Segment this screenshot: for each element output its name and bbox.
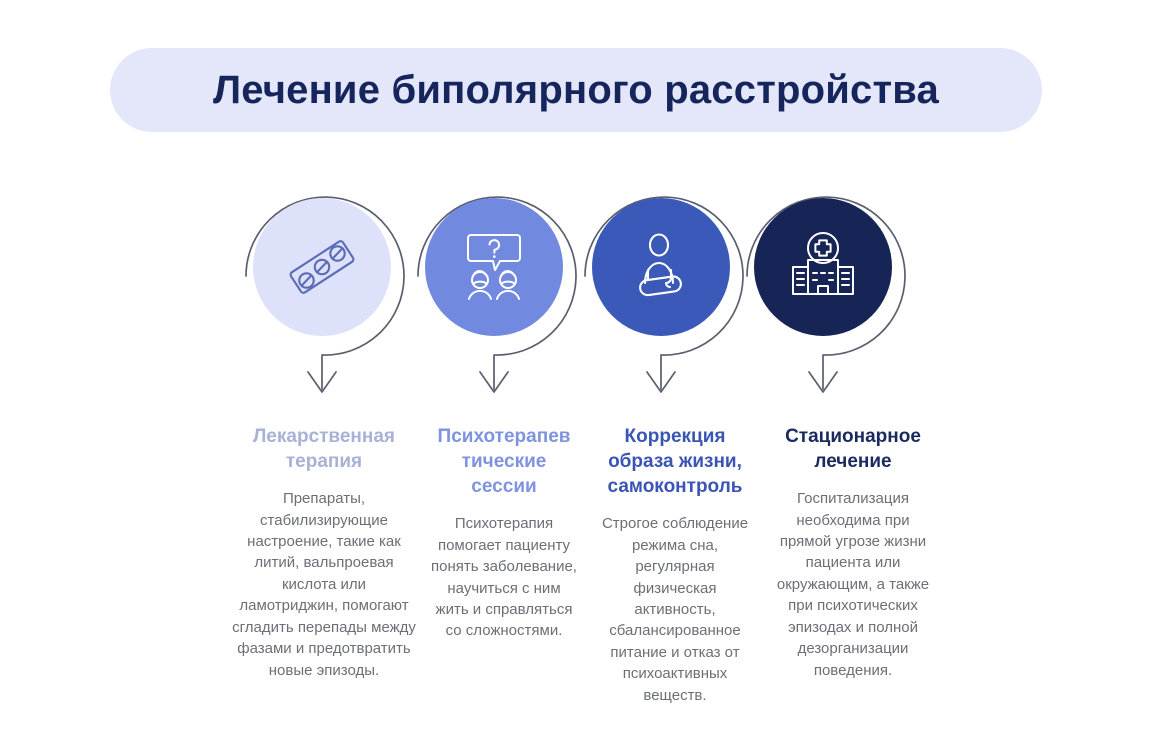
step-column-1: Лекарственная терапия Препараты, стабили… bbox=[208, 424, 440, 706]
page-title: Лечение биполярного расстройства bbox=[213, 68, 939, 113]
pill-blister-pack-icon bbox=[283, 228, 361, 306]
connector-step-2 bbox=[418, 197, 576, 392]
step-heading-3: Коррекция образа жизни, самоконтроль bbox=[596, 424, 754, 499]
connector-step-3 bbox=[585, 197, 743, 392]
step-heading-4: Стационарное лечение bbox=[770, 424, 936, 474]
step-body-3: Строгое соблюдение режима сна, регулярна… bbox=[596, 513, 754, 706]
step-column-4: Стационарное лечение Госпитализация необ… bbox=[764, 424, 942, 706]
step-column-2: Психотерапев тические сессии Психотерапи… bbox=[424, 424, 584, 706]
hospital-building-icon bbox=[783, 227, 863, 307]
title-banner: Лечение биполярного расстройства bbox=[110, 48, 1042, 132]
step-column-3: Коррекция образа жизни, самоконтроль Стр… bbox=[590, 424, 760, 706]
step-text-columns: Лекарственная терапия Препараты, стабили… bbox=[0, 424, 1152, 706]
step-body-2: Психотерапия помогает пациенту понять за… bbox=[430, 513, 578, 642]
step-body-4: Госпитализация необходима при прямой угр… bbox=[770, 488, 936, 681]
step-heading-2: Психотерапев тические сессии bbox=[430, 424, 578, 499]
two-people-question-bubble-icon bbox=[454, 227, 534, 307]
step-circle-4 bbox=[754, 198, 892, 336]
connector-step-1 bbox=[246, 197, 404, 392]
step-circle-2 bbox=[425, 198, 563, 336]
meditating-person-icon bbox=[622, 228, 700, 306]
step-circle-1 bbox=[253, 198, 391, 336]
step-body-1: Препараты, стабилизирующие настроение, т… bbox=[214, 488, 434, 681]
connector-step-4 bbox=[747, 197, 905, 392]
step-heading-1: Лекарственная терапия bbox=[214, 424, 434, 474]
step-circle-3 bbox=[592, 198, 730, 336]
